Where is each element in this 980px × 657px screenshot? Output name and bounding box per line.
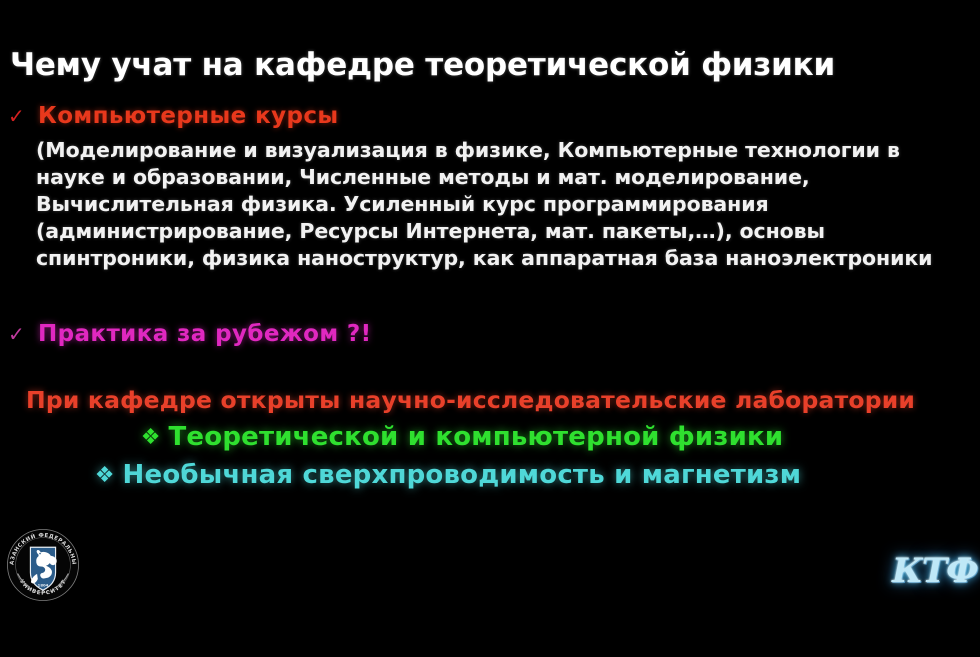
description-line: науке и образовании, Численные методы и … [36,164,976,191]
bullet-item-internship-abroad: ✓ Практика за рубежом ?! [8,320,372,348]
lab-label-theoretical-computational-physics: Теоретической и компьютерной физики [168,422,783,452]
kfu-seal-icon: КАЗАНСКИЙ ФЕДЕРАЛЬНЫЙ УНИВЕРСИТЕТ 1804 [6,528,80,602]
bullet-item-computer-courses: ✓ Компьютерные курсы [8,102,339,130]
lab-item-superconductivity-magnetism: ❖Необычная сверхпроводимость и магнетизм [0,460,938,490]
page-title: Чему учат на кафедре теоретической физик… [10,46,970,84]
checkmark-icon: ✓ [8,324,38,344]
kfu-year: 1804 [38,582,49,587]
diamond-bullet-icon: ❖ [141,425,161,450]
course-description-paragraph: (Моделирование и визуализация в физике, … [36,137,976,272]
bullet-label-computer-courses: Компьютерные курсы [38,102,339,130]
labs-heading: При кафедре открыты научно-исследователь… [26,385,966,415]
description-line: спинтроники, физика наноструктур, как ап… [36,245,976,272]
bullet-label-internship-abroad: Практика за рубежом ?! [38,320,372,348]
ktf-department-logo: КТФ [892,546,972,598]
kfu-university-logo: КАЗАНСКИЙ ФЕДЕРАЛЬНЫЙ УНИВЕРСИТЕТ 1804 [6,528,80,602]
checkmark-icon: ✓ [8,106,38,126]
lab-item-theoretical-computational-physics: ❖Теоретической и компьютерной физики [0,422,952,452]
description-line: Вычислительная физика. Усиленный курс пр… [36,191,976,218]
presentation-slide: Чему учат на кафедре теоретической физик… [0,0,980,657]
lab-label-superconductivity-magnetism: Необычная сверхпроводимость и магнетизм [123,460,802,490]
ktf-logo-text: КТФ [892,546,972,596]
diamond-bullet-icon: ❖ [95,463,115,488]
description-line: (Моделирование и визуализация в физике, … [36,137,976,164]
description-line: (администрирование, Ресурсы Интернета, м… [36,218,976,245]
